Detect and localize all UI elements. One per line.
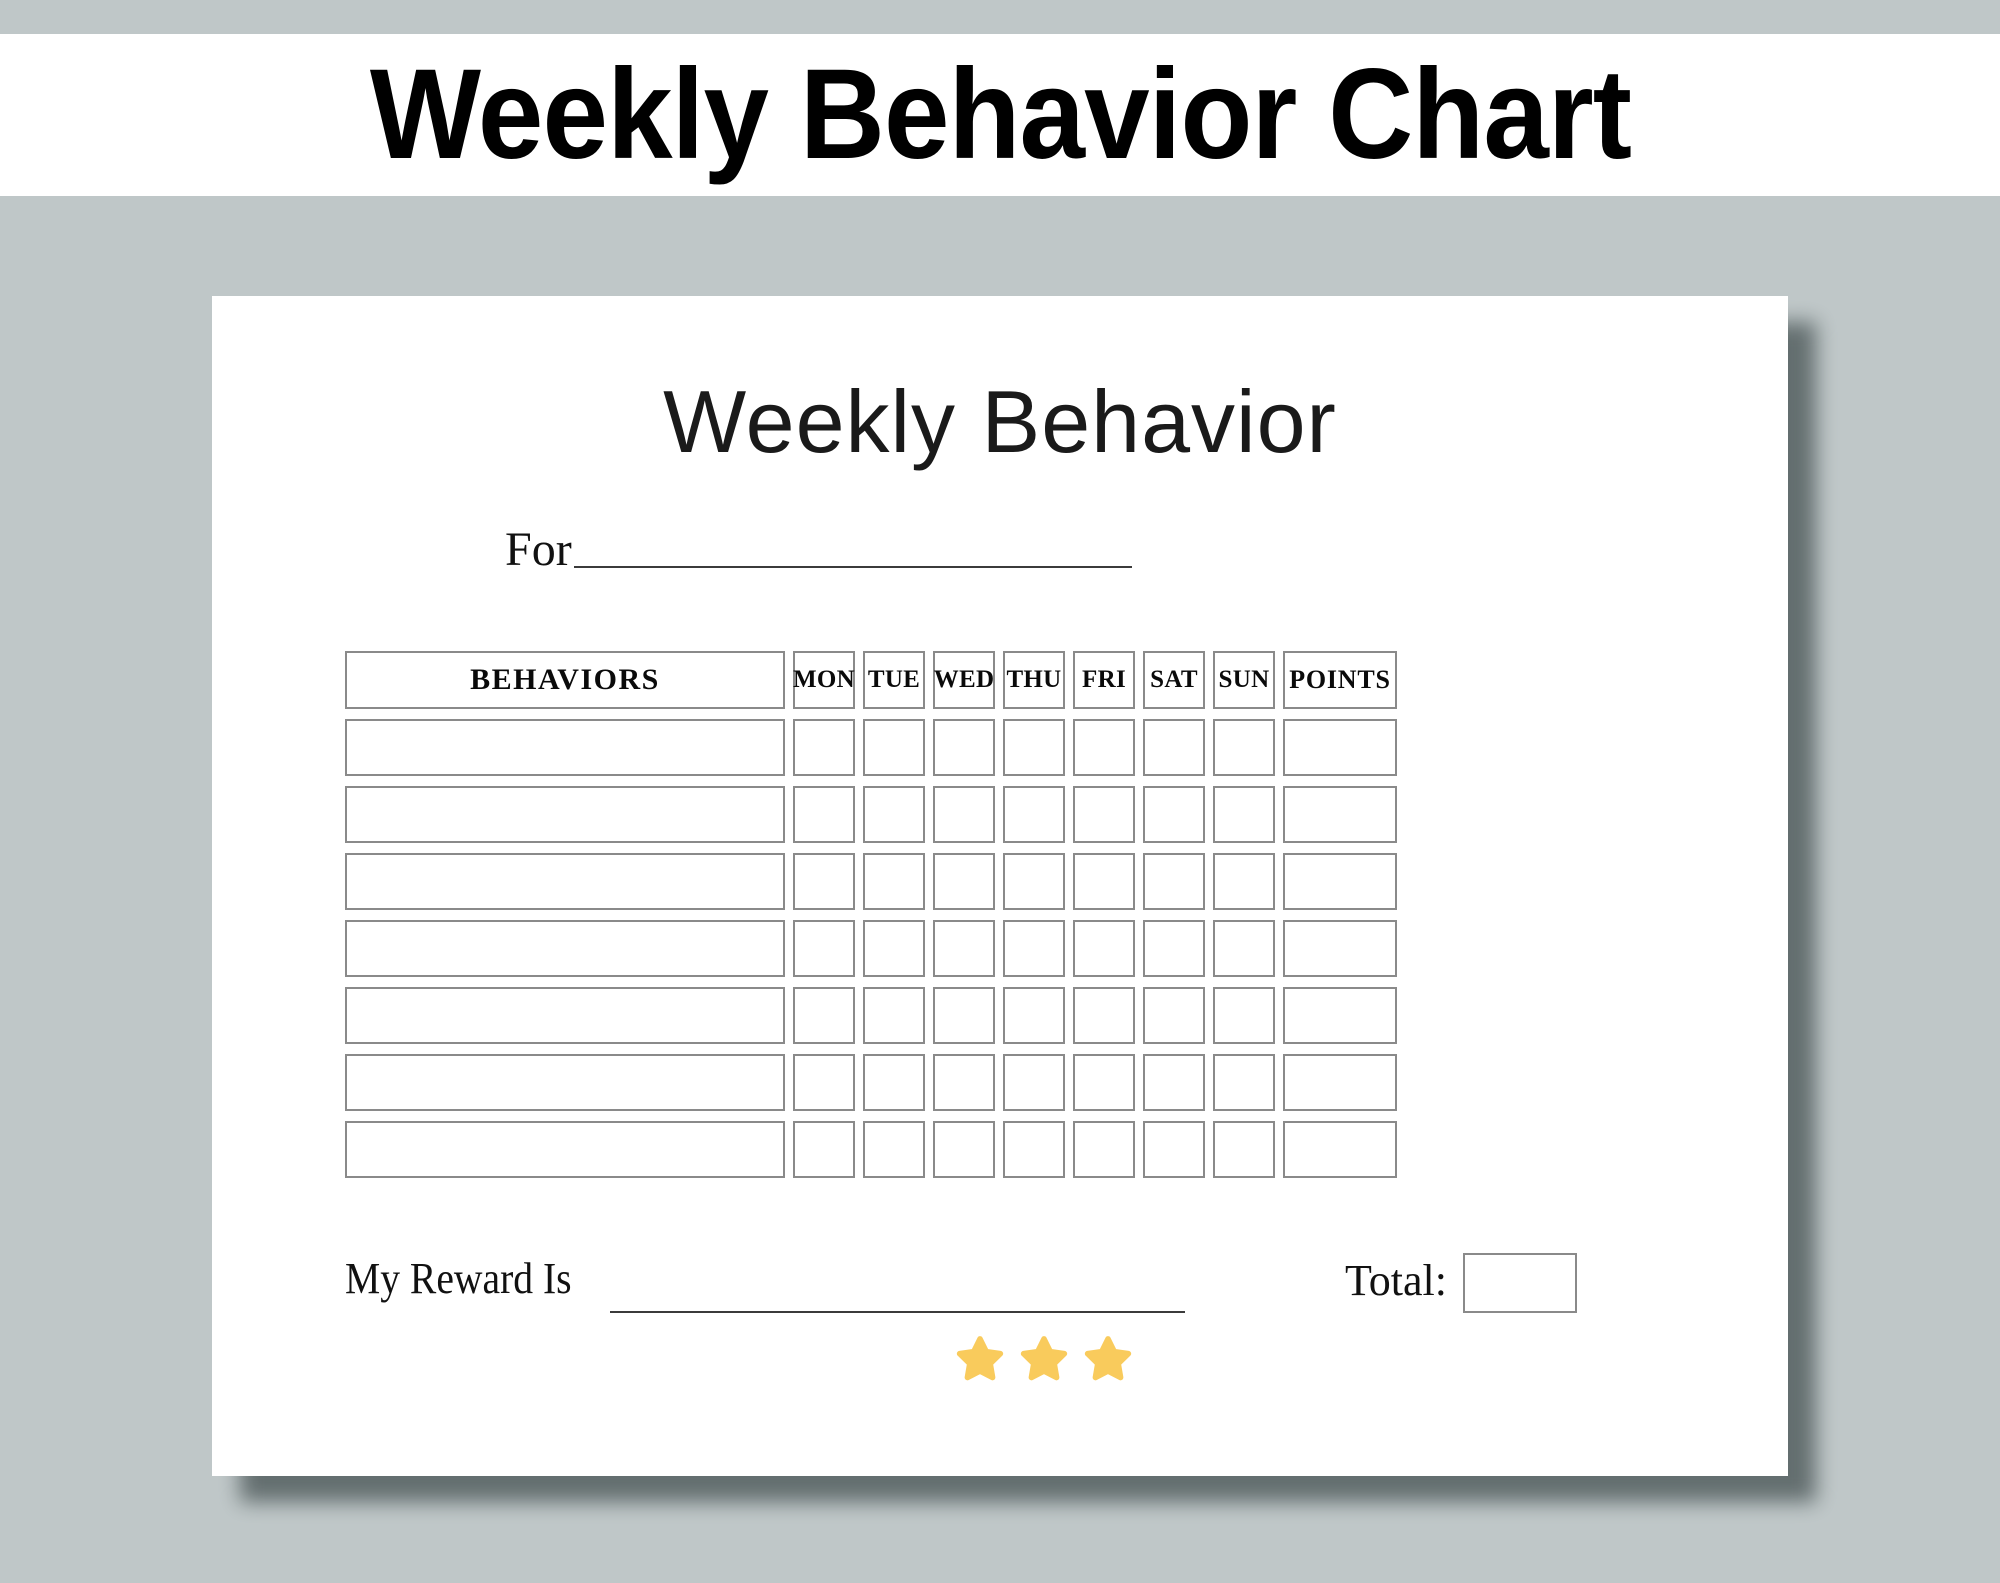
column-header-mon: MON	[793, 651, 855, 709]
table-cell-thu[interactable]	[1003, 1054, 1065, 1111]
reward-input-line[interactable]	[610, 1311, 1185, 1313]
column-header-behaviors: BEHAVIORS	[345, 651, 785, 709]
table-cell-wed[interactable]	[933, 719, 995, 776]
table-cell-sun[interactable]	[1213, 1054, 1275, 1111]
table-cell-behaviors[interactable]	[345, 1121, 785, 1178]
table-row	[345, 1054, 1655, 1111]
table-body	[345, 719, 1655, 1178]
table-cell-mon[interactable]	[793, 987, 855, 1044]
table-cell-fri[interactable]	[1073, 987, 1135, 1044]
table-cell-sat[interactable]	[1143, 1054, 1205, 1111]
table-cell-wed[interactable]	[933, 786, 995, 843]
table-cell-sat[interactable]	[1143, 987, 1205, 1044]
for-field-row: For	[505, 514, 1605, 574]
table-cell-thu[interactable]	[1003, 786, 1065, 843]
table-cell-mon[interactable]	[793, 853, 855, 910]
table-cell-points[interactable]	[1283, 786, 1397, 843]
behavior-table: BEHAVIORS MON TUE WED THU FRI SAT SUN PO…	[345, 651, 1655, 1188]
table-header-row: BEHAVIORS MON TUE WED THU FRI SAT SUN PO…	[345, 651, 1655, 709]
table-cell-thu[interactable]	[1003, 853, 1065, 910]
table-row	[345, 786, 1655, 843]
star-icon	[1081, 1332, 1135, 1384]
table-cell-sat[interactable]	[1143, 853, 1205, 910]
table-cell-tue[interactable]	[863, 1054, 925, 1111]
table-cell-tue[interactable]	[863, 987, 925, 1044]
table-cell-fri[interactable]	[1073, 920, 1135, 977]
for-input-line[interactable]	[574, 566, 1132, 568]
table-cell-tue[interactable]	[863, 853, 925, 910]
table-cell-tue[interactable]	[863, 719, 925, 776]
table-cell-thu[interactable]	[1003, 920, 1065, 977]
for-label: For	[505, 526, 572, 574]
table-row	[345, 719, 1655, 776]
column-header-thu: THU	[1003, 651, 1065, 709]
table-cell-behaviors[interactable]	[345, 786, 785, 843]
table-cell-thu[interactable]	[1003, 987, 1065, 1044]
table-cell-behaviors[interactable]	[345, 987, 785, 1044]
table-cell-mon[interactable]	[793, 920, 855, 977]
column-header-fri: FRI	[1073, 651, 1135, 709]
table-cell-points[interactable]	[1283, 1054, 1397, 1111]
table-cell-wed[interactable]	[933, 1054, 995, 1111]
table-row	[345, 987, 1655, 1044]
table-cell-wed[interactable]	[933, 853, 995, 910]
table-cell-mon[interactable]	[793, 1054, 855, 1111]
table-cell-thu[interactable]	[1003, 1121, 1065, 1178]
table-cell-sat[interactable]	[1143, 1121, 1205, 1178]
table-cell-behaviors[interactable]	[345, 1054, 785, 1111]
column-header-tue: TUE	[863, 651, 925, 709]
table-cell-sat[interactable]	[1143, 920, 1205, 977]
column-header-points: POINTS	[1283, 651, 1397, 709]
table-row	[345, 853, 1655, 910]
footer-row: My Reward Is Total:	[345, 1253, 1655, 1325]
table-cell-sun[interactable]	[1213, 1121, 1275, 1178]
table-cell-tue[interactable]	[863, 786, 925, 843]
table-cell-tue[interactable]	[863, 920, 925, 977]
chart-title: Weekly Behavior	[212, 378, 1788, 466]
table-cell-thu[interactable]	[1003, 719, 1065, 776]
total-input-box[interactable]	[1463, 1253, 1577, 1313]
table-cell-behaviors[interactable]	[345, 719, 785, 776]
table-cell-fri[interactable]	[1073, 853, 1135, 910]
page-title: Weekly Behavior Chart	[369, 51, 1630, 179]
star-decoration	[212, 1332, 1788, 1384]
table-cell-points[interactable]	[1283, 1121, 1397, 1178]
star-icon	[953, 1332, 1007, 1384]
table-cell-mon[interactable]	[793, 719, 855, 776]
table-cell-wed[interactable]	[933, 920, 995, 977]
table-cell-sat[interactable]	[1143, 719, 1205, 776]
column-header-sun: SUN	[1213, 651, 1275, 709]
table-cell-tue[interactable]	[863, 1121, 925, 1178]
table-cell-behaviors[interactable]	[345, 920, 785, 977]
table-cell-points[interactable]	[1283, 920, 1397, 977]
table-cell-behaviors[interactable]	[345, 853, 785, 910]
column-header-sat: SAT	[1143, 651, 1205, 709]
table-cell-sat[interactable]	[1143, 786, 1205, 843]
table-cell-wed[interactable]	[933, 1121, 995, 1178]
table-cell-mon[interactable]	[793, 786, 855, 843]
table-cell-fri[interactable]	[1073, 786, 1135, 843]
table-cell-sun[interactable]	[1213, 920, 1275, 977]
table-cell-points[interactable]	[1283, 853, 1397, 910]
table-cell-fri[interactable]	[1073, 719, 1135, 776]
page-banner: Weekly Behavior Chart	[0, 34, 2000, 196]
table-row	[345, 1121, 1655, 1178]
table-cell-sun[interactable]	[1213, 719, 1275, 776]
table-cell-sun[interactable]	[1213, 786, 1275, 843]
total-label: Total:	[1345, 1259, 1447, 1303]
table-cell-points[interactable]	[1283, 987, 1397, 1044]
table-cell-sun[interactable]	[1213, 853, 1275, 910]
star-icon	[1017, 1332, 1071, 1384]
column-header-wed: WED	[933, 651, 995, 709]
table-cell-sun[interactable]	[1213, 987, 1275, 1044]
table-cell-fri[interactable]	[1073, 1121, 1135, 1178]
table-row	[345, 920, 1655, 977]
table-cell-mon[interactable]	[793, 1121, 855, 1178]
table-cell-points[interactable]	[1283, 719, 1397, 776]
reward-label: My Reward Is	[345, 1257, 572, 1301]
table-cell-fri[interactable]	[1073, 1054, 1135, 1111]
behavior-chart-card: Weekly Behavior For BEHAVIORS MON TUE WE…	[212, 296, 1788, 1476]
table-cell-wed[interactable]	[933, 987, 995, 1044]
